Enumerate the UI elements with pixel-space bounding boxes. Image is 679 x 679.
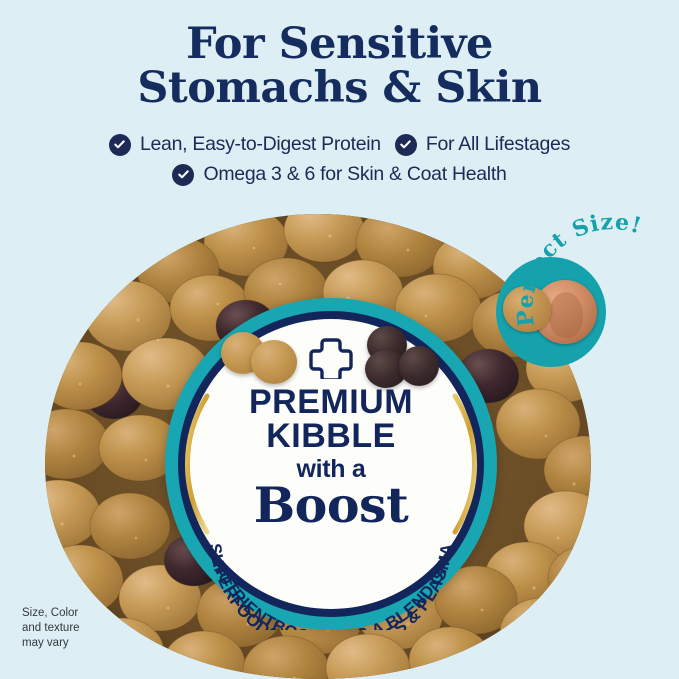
check-circle-icon bbox=[395, 134, 417, 156]
headline-line-2: Stomachs & Skin bbox=[0, 66, 679, 110]
product-marketing-image: For Sensitive Stomachs & Skin Lean, Easy… bbox=[0, 0, 679, 679]
page-title: For Sensitive Stomachs & Skin bbox=[0, 22, 679, 111]
bullet-row-2: Omega 3 & 6 for Skin & Coat Health bbox=[0, 163, 679, 186]
bullet-item: For All Lifestages bbox=[395, 133, 570, 156]
disclaimer-line-2: and texture bbox=[22, 621, 80, 636]
svg-text:Perfect Size!: Perfect Size! bbox=[512, 213, 645, 328]
bullet-item: Lean, Easy-to-Digest Protein bbox=[109, 133, 381, 156]
bullet-item: Omega 3 & 6 for Skin & Coat Health bbox=[172, 163, 506, 186]
disclaimer-line-3: may vary bbox=[22, 636, 80, 651]
bullet-label: Omega 3 & 6 for Skin & Coat Health bbox=[203, 163, 506, 186]
feature-bullets: Lean, Easy-to-Digest Protein For All Lif… bbox=[0, 133, 679, 193]
bullet-label: Lean, Easy-to-Digest Protein bbox=[140, 133, 381, 156]
bullet-row-1: Lean, Easy-to-Digest Protein For All Lif… bbox=[0, 133, 679, 156]
check-circle-icon bbox=[172, 164, 194, 186]
check-circle-icon bbox=[109, 134, 131, 156]
premium-kibble-badge: PREMIUM KIBBLE with a Boost NUTRIENTBOOS… bbox=[165, 298, 497, 630]
bullet-label: For All Lifestages bbox=[426, 133, 570, 156]
perfect-size-label: Perfect Size! bbox=[512, 213, 645, 328]
badge-curve-inner: SUPERFOODS, ANTIOXIDANTS & PLASMA bbox=[205, 542, 456, 630]
disclaimer-line-1: Size, Color bbox=[22, 606, 80, 621]
svg-text:SUPERFOODS, ANTIOXIDANTS & PLA: SUPERFOODS, ANTIOXIDANTS & PLASMA bbox=[205, 542, 456, 630]
headline-line-1: For Sensitive bbox=[186, 19, 493, 69]
perfect-size-callout: Perfect Size! bbox=[487, 213, 679, 363]
disclaimer-text: Size, Color and texture may vary bbox=[22, 606, 80, 652]
